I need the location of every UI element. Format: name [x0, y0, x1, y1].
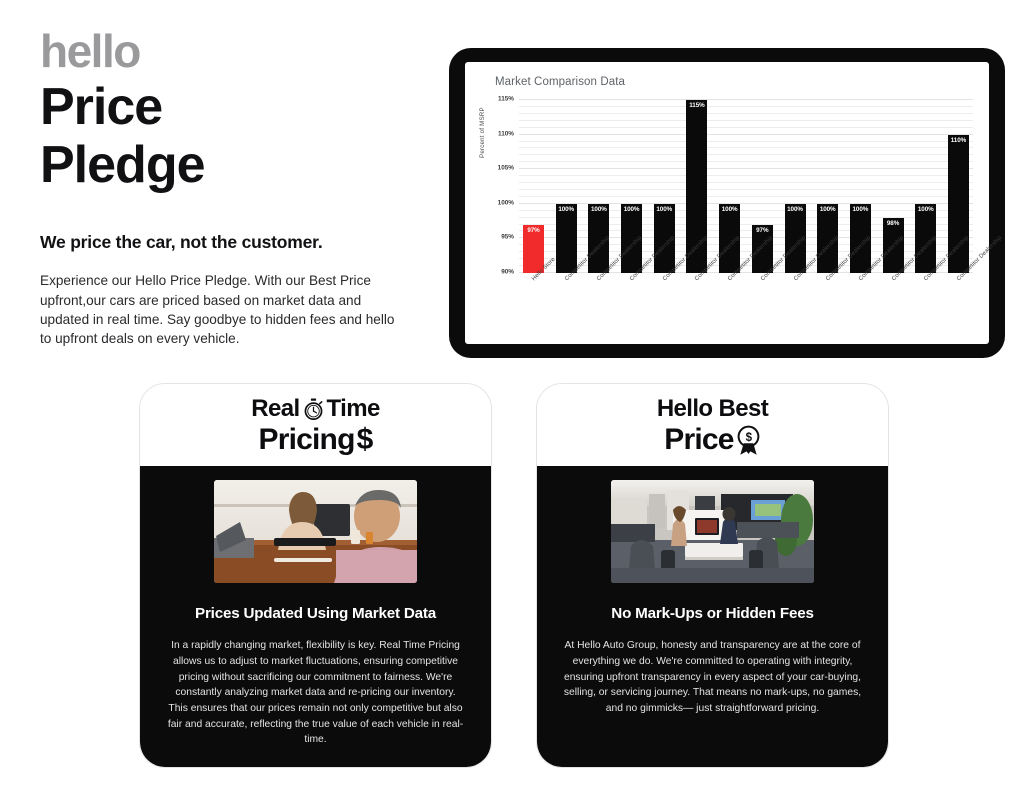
y-axis-tick: 90%	[501, 269, 514, 276]
dollar-sign-icon: $	[357, 425, 373, 455]
card-header: Hello Best Price $	[537, 384, 888, 466]
chart-bar-value-label: 100%	[817, 206, 838, 213]
chart-bars: 97%100%100%100%100%115%100%97%100%100%10…	[519, 100, 973, 273]
chart-bar-value-label: 100%	[785, 206, 806, 213]
card-header-line2: Price $	[547, 423, 878, 457]
chart-title: Market Comparison Data	[495, 76, 977, 88]
card-header-word-price: Price	[664, 423, 733, 457]
hero-description: Experience our Hello Price Pledge. With …	[40, 271, 395, 348]
chart-bar-value-label: 98%	[883, 220, 904, 227]
chart-bar-value-label: 97%	[523, 227, 544, 234]
card-header-text-hello-best: Hello Best	[657, 396, 768, 423]
award-ribbon-dollar-icon: $	[736, 425, 761, 455]
chart-bar-value-label: 100%	[850, 206, 871, 213]
y-axis-tick: 105%	[498, 165, 514, 172]
card-header-line2: Pricing $	[150, 423, 481, 457]
card-paragraph: At Hello Auto Group, honesty and transpa…	[563, 638, 863, 716]
card-body: No Mark-Ups or Hidden Fees At Hello Auto…	[537, 466, 888, 767]
card-paragraph: In a rapidly changing market, flexibilit…	[166, 638, 466, 747]
chart-bar-value-label: 115%	[686, 102, 707, 109]
chart-bar-slot: 97%	[523, 100, 544, 273]
card-header-word-real: Real	[251, 396, 299, 423]
card-header: Real Time Pricing $	[140, 384, 491, 466]
hero-block: hello Price Pledge We price the car, not…	[40, 28, 420, 349]
y-axis-tick: 115%	[498, 96, 514, 103]
page-title-line2: Pledge	[40, 136, 420, 194]
hero-subtitle: We price the car, not the customer.	[40, 232, 420, 253]
chart-bar-slot: 100%	[556, 100, 577, 273]
page-title-line1: Price	[40, 78, 420, 136]
y-axis-tick: 95%	[501, 234, 514, 241]
chart-bar-value-label: 100%	[621, 206, 642, 213]
card-body: Prices Updated Using Market Data In a ra…	[140, 466, 491, 767]
brand-wordmark: hello	[40, 28, 420, 74]
two-people-at-desk-photo	[214, 480, 417, 583]
svg-text:$: $	[745, 432, 752, 444]
chart-bar-value-label: 100%	[654, 206, 675, 213]
y-axis-title: Percent of MSRP	[479, 107, 486, 158]
card-heading: Prices Updated Using Market Data	[195, 605, 436, 622]
chart-bar-hello-store: 97%	[523, 225, 544, 273]
chart-bar-value-label: 100%	[588, 206, 609, 213]
chart-plot-area: 90%95%100%105%110%115% 97%100%100%100%10…	[519, 100, 973, 273]
tablet-screen: Market Comparison Data Percent of MSRP 9…	[465, 62, 989, 344]
card-header-word-pricing: Pricing	[259, 423, 355, 457]
stopwatch-icon	[303, 398, 324, 421]
chart-bar-value-label: 100%	[556, 206, 577, 213]
card-header-word-time: Time	[327, 396, 380, 423]
y-axis-tick: 100%	[498, 199, 514, 206]
y-axis-tick: 110%	[498, 130, 514, 137]
bar-chart: Percent of MSRP 90%95%100%105%110%115% 9…	[477, 96, 979, 340]
chart-bar-competitor: 100%	[556, 204, 577, 273]
feature-card-hello-best-price: Hello Best Price $	[536, 383, 889, 768]
card-header-line1: Hello Best	[547, 396, 878, 423]
card-header-line1: Real Time	[150, 396, 481, 423]
chart-bar-value-label: 110%	[948, 137, 969, 144]
chart-bar-value-label: 100%	[719, 206, 740, 213]
dealership-showroom-photo	[611, 480, 814, 583]
tablet-device-frame: Market Comparison Data Percent of MSRP 9…	[449, 48, 1005, 358]
chart-bar-value-label: 100%	[915, 206, 936, 213]
card-heading: No Mark-Ups or Hidden Fees	[611, 605, 813, 622]
feature-card-real-time-pricing: Real Time Pricing $	[139, 383, 492, 768]
chart-bar-value-label: 97%	[752, 227, 773, 234]
